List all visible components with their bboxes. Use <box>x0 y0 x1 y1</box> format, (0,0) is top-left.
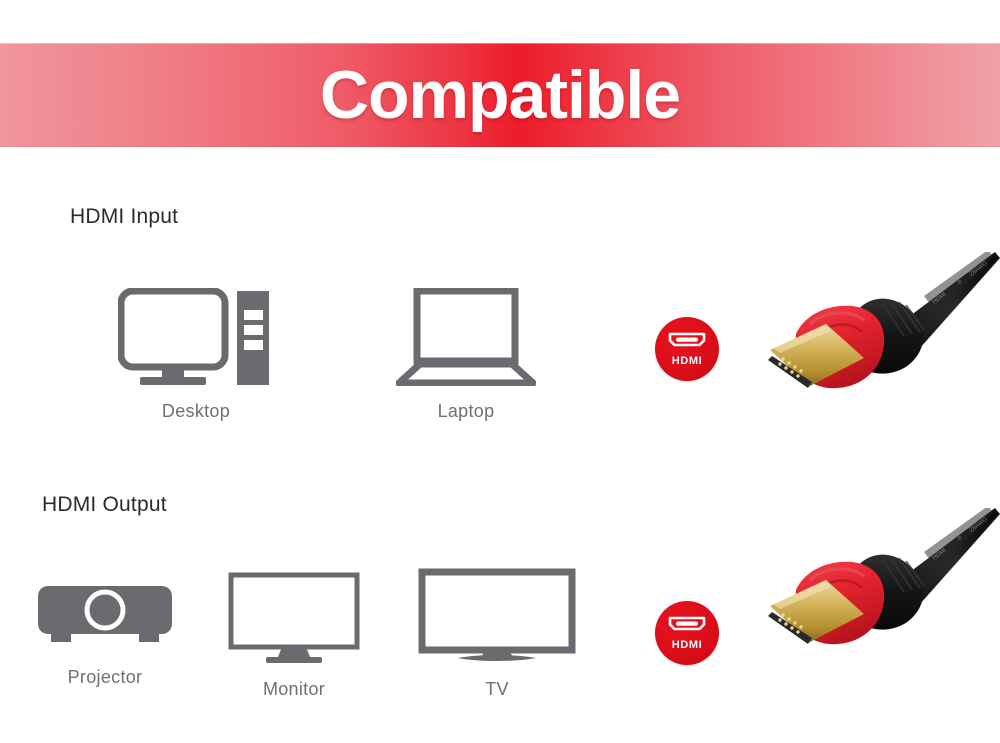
device-label-monitor: Monitor <box>228 679 360 700</box>
device-label-projector: Projector <box>35 667 175 688</box>
hdmi-badge-input: HDMI <box>655 317 719 381</box>
device-item-monitor: Monitor <box>228 572 360 700</box>
page-title: Compatible <box>0 61 1000 129</box>
device-label-laptop: Laptop <box>396 401 536 422</box>
laptop-icon <box>396 288 536 391</box>
hdmi-port-icon <box>667 331 707 353</box>
hdmi-cable-photo-output: HDMI ® 28AWG <box>752 508 1000 690</box>
section-heading-output: HDMI Output <box>42 493 167 517</box>
infographic-page: Compatible HDMI Input Desktop Laptop <box>0 0 1000 743</box>
device-label-desktop: Desktop <box>118 401 274 422</box>
hdmi-cable-photo-input: HDMI ® 28AWG <box>752 252 1000 434</box>
hdmi-badge-output: HDMI <box>655 601 719 665</box>
device-item-tv: TV <box>418 568 576 700</box>
section-heading-input: HDMI Input <box>70 205 178 229</box>
television-icon <box>418 568 576 669</box>
header-banner: Compatible <box>0 43 1000 147</box>
device-item-laptop: Laptop <box>396 288 536 422</box>
hdmi-port-icon <box>667 615 707 637</box>
hdmi-badge-label: HDMI <box>672 640 703 651</box>
device-item-projector: Projector <box>35 580 175 688</box>
device-label-tv: TV <box>418 679 576 700</box>
monitor-icon <box>228 572 360 669</box>
projector-icon <box>35 580 175 657</box>
hdmi-badge-label: HDMI <box>672 356 703 367</box>
desktop-computer-icon <box>118 288 274 391</box>
device-item-desktop: Desktop <box>118 288 274 422</box>
